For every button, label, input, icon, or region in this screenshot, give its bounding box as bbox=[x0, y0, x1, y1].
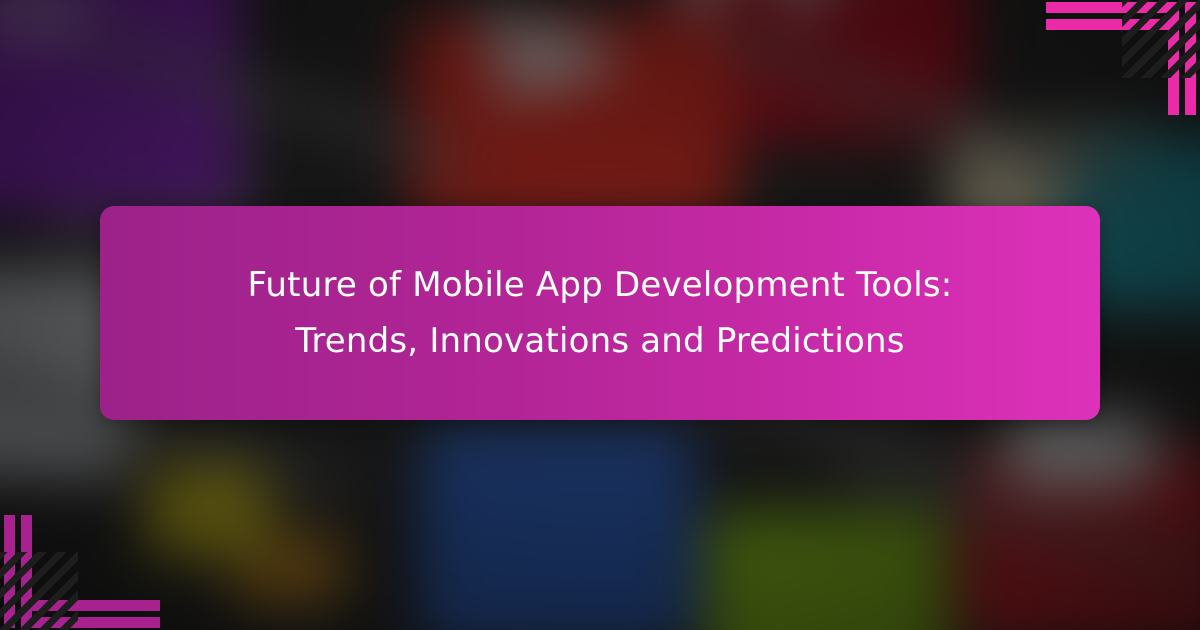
social-share-card: Future of Mobile App Development Tools: … bbox=[0, 0, 1200, 630]
title-banner: Future of Mobile App Development Tools: … bbox=[100, 206, 1100, 420]
page-title: Future of Mobile App Development Tools: … bbox=[208, 257, 993, 369]
